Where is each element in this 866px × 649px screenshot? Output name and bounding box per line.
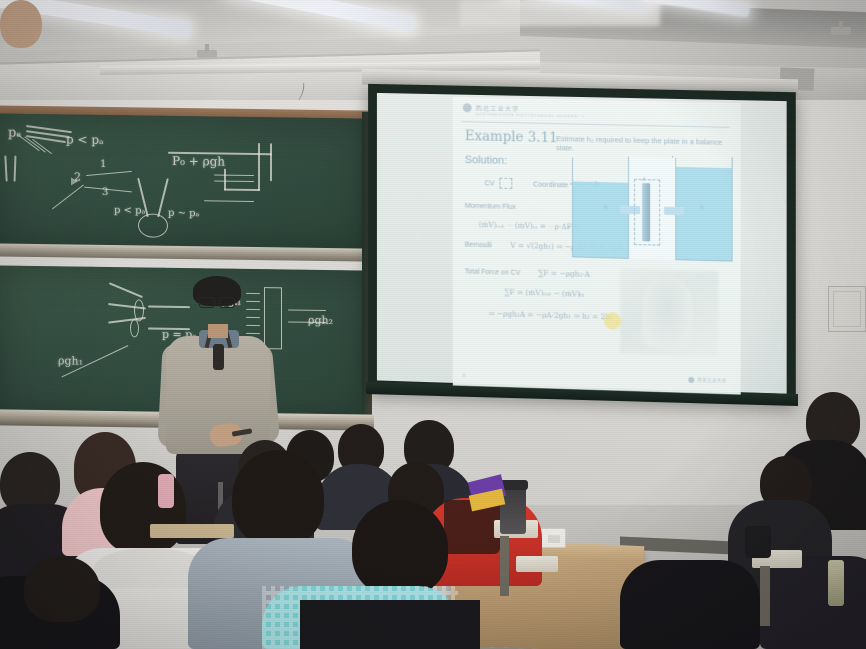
sprinkler-head-icon [831, 27, 851, 35]
slide-page-number: 8 [463, 373, 465, 378]
student-body [760, 556, 866, 649]
slide-equation: (ṁV)ₒᵤₜ − (ṁV)ᵢₙ = −ρ·ΔF·V [479, 220, 580, 232]
cv-label: CV [485, 178, 495, 187]
slide-footer: 西北工业大学 [689, 377, 727, 384]
coordinate-label: Coordinate [533, 180, 568, 190]
chalk-note: ρgh₂ [308, 314, 333, 327]
bernoulli-label: Bernoulli [465, 242, 492, 250]
student-body [620, 560, 760, 649]
figure-label: h₁ [604, 204, 608, 210]
chalk-note: pₐ [8, 126, 21, 141]
instructor-face [0, 0, 42, 48]
slide-header-rule [462, 121, 730, 128]
slide-equation: ∑F = (ṁV)ₒᵤₜ − (ṁV)ᵢₙ [504, 287, 584, 298]
instructor-lanyard [213, 344, 224, 370]
university-crest-icon [463, 103, 472, 112]
wall-power-socket [540, 528, 566, 548]
classroom-photo: pₐ p < pₐ 2 1 3 p < pₐ p ~ pₐ P₀ + ρgh [0, 0, 866, 649]
desk-leg [760, 566, 770, 626]
slide-inset-photo [620, 269, 718, 356]
slide-logo-english: NORTHWESTERN POLYTECHNICAL UNIVERSITY [476, 112, 585, 118]
chalkboard-upper: pₐ p < pₐ 2 1 3 p < pₐ p ~ pₐ P₀ + ρgh [0, 113, 370, 250]
water-bottle [158, 474, 174, 508]
projected-slide: 西北工业大学 NORTHWESTERN POLYTECHNICAL UNIVER… [453, 97, 741, 395]
figure-label: h₂ [700, 205, 705, 211]
control-volume-box-icon [499, 178, 512, 189]
chalk-note: P₀ + ρgh [172, 154, 225, 169]
student-head [352, 500, 448, 596]
desk-leg [500, 536, 509, 596]
student-body [300, 600, 480, 649]
momentum-flux-label: Momentum Flux [465, 201, 516, 211]
slide-title: Example 3.11 [465, 128, 558, 146]
bag-on-desk [745, 526, 771, 558]
slide-footer-text: 西北工业大学 [698, 377, 727, 384]
desk-surface [516, 556, 558, 572]
water-bottle [828, 560, 844, 606]
slide-tank-figure: h₁ h₂ A [572, 151, 733, 267]
highlight-circle [604, 312, 621, 330]
slide-equation: ⇒ −ρgh₂A = −ρA·2gh₁ ⇒ h₂ = 2h₁ [489, 309, 614, 322]
chalk-note: p < pₐ [114, 205, 145, 216]
left-tank-water [573, 181, 631, 257]
slide-cv-row: CV Coordinate [485, 177, 569, 190]
right-nozzle [664, 207, 684, 216]
desk-surface [150, 524, 234, 538]
slide-solution-label: Solution: [465, 154, 507, 167]
air-vent-panel [828, 286, 866, 332]
instructor-glasses [199, 297, 235, 306]
figure-label: A [642, 177, 645, 183]
chalk-note: ρgh₁ [58, 354, 83, 367]
chalk-note: 1 [100, 159, 106, 170]
chalk-note: p ~ pₐ [168, 208, 199, 219]
chalk-note: p < pₐ [66, 132, 104, 147]
instructor-neck [208, 324, 228, 338]
student-head [24, 556, 100, 622]
footer-crest-icon [689, 377, 695, 383]
slide-equation: ∑F = −ρgh₂·A [538, 268, 590, 278]
balance-plate [642, 183, 650, 241]
instructor [0, 0, 42, 48]
student-head [232, 450, 324, 546]
total-force-label: Total Force on CV [465, 268, 521, 276]
